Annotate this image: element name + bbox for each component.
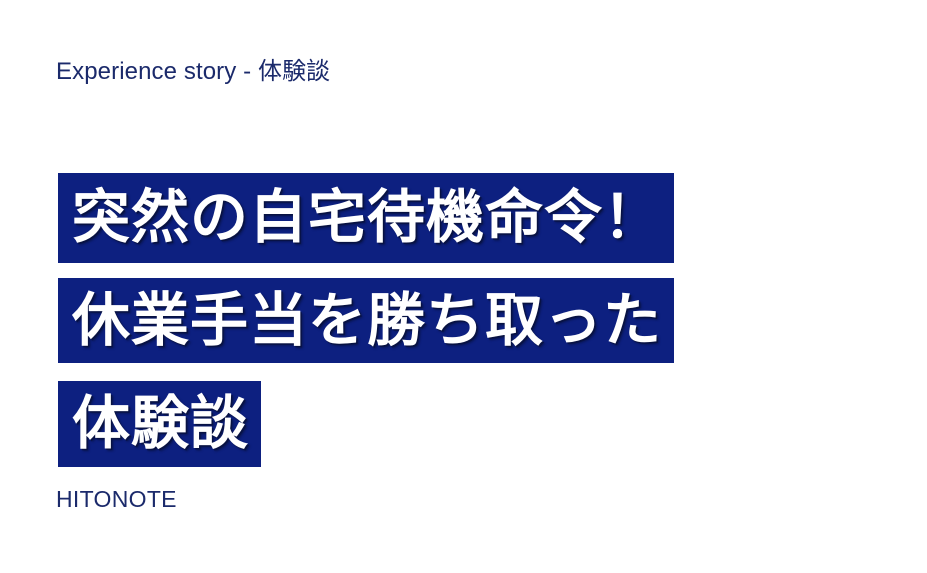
brand-name-label: HITONOTE (56, 484, 177, 514)
headline-line-2: 休業手当を勝ち取った (58, 278, 674, 363)
headline-line-1: 突然の自宅待機命令！ (58, 173, 674, 263)
eyebrow-category-label: Experience story - 体験談 (56, 56, 330, 88)
headline-line-3: 体験談 (58, 381, 261, 467)
headline-block: 突然の自宅待機命令！ 休業手当を勝ち取った 体験談 (58, 173, 674, 467)
slide-canvas: Experience story - 体験談 突然の自宅待機命令！ 休業手当を勝… (0, 0, 927, 573)
